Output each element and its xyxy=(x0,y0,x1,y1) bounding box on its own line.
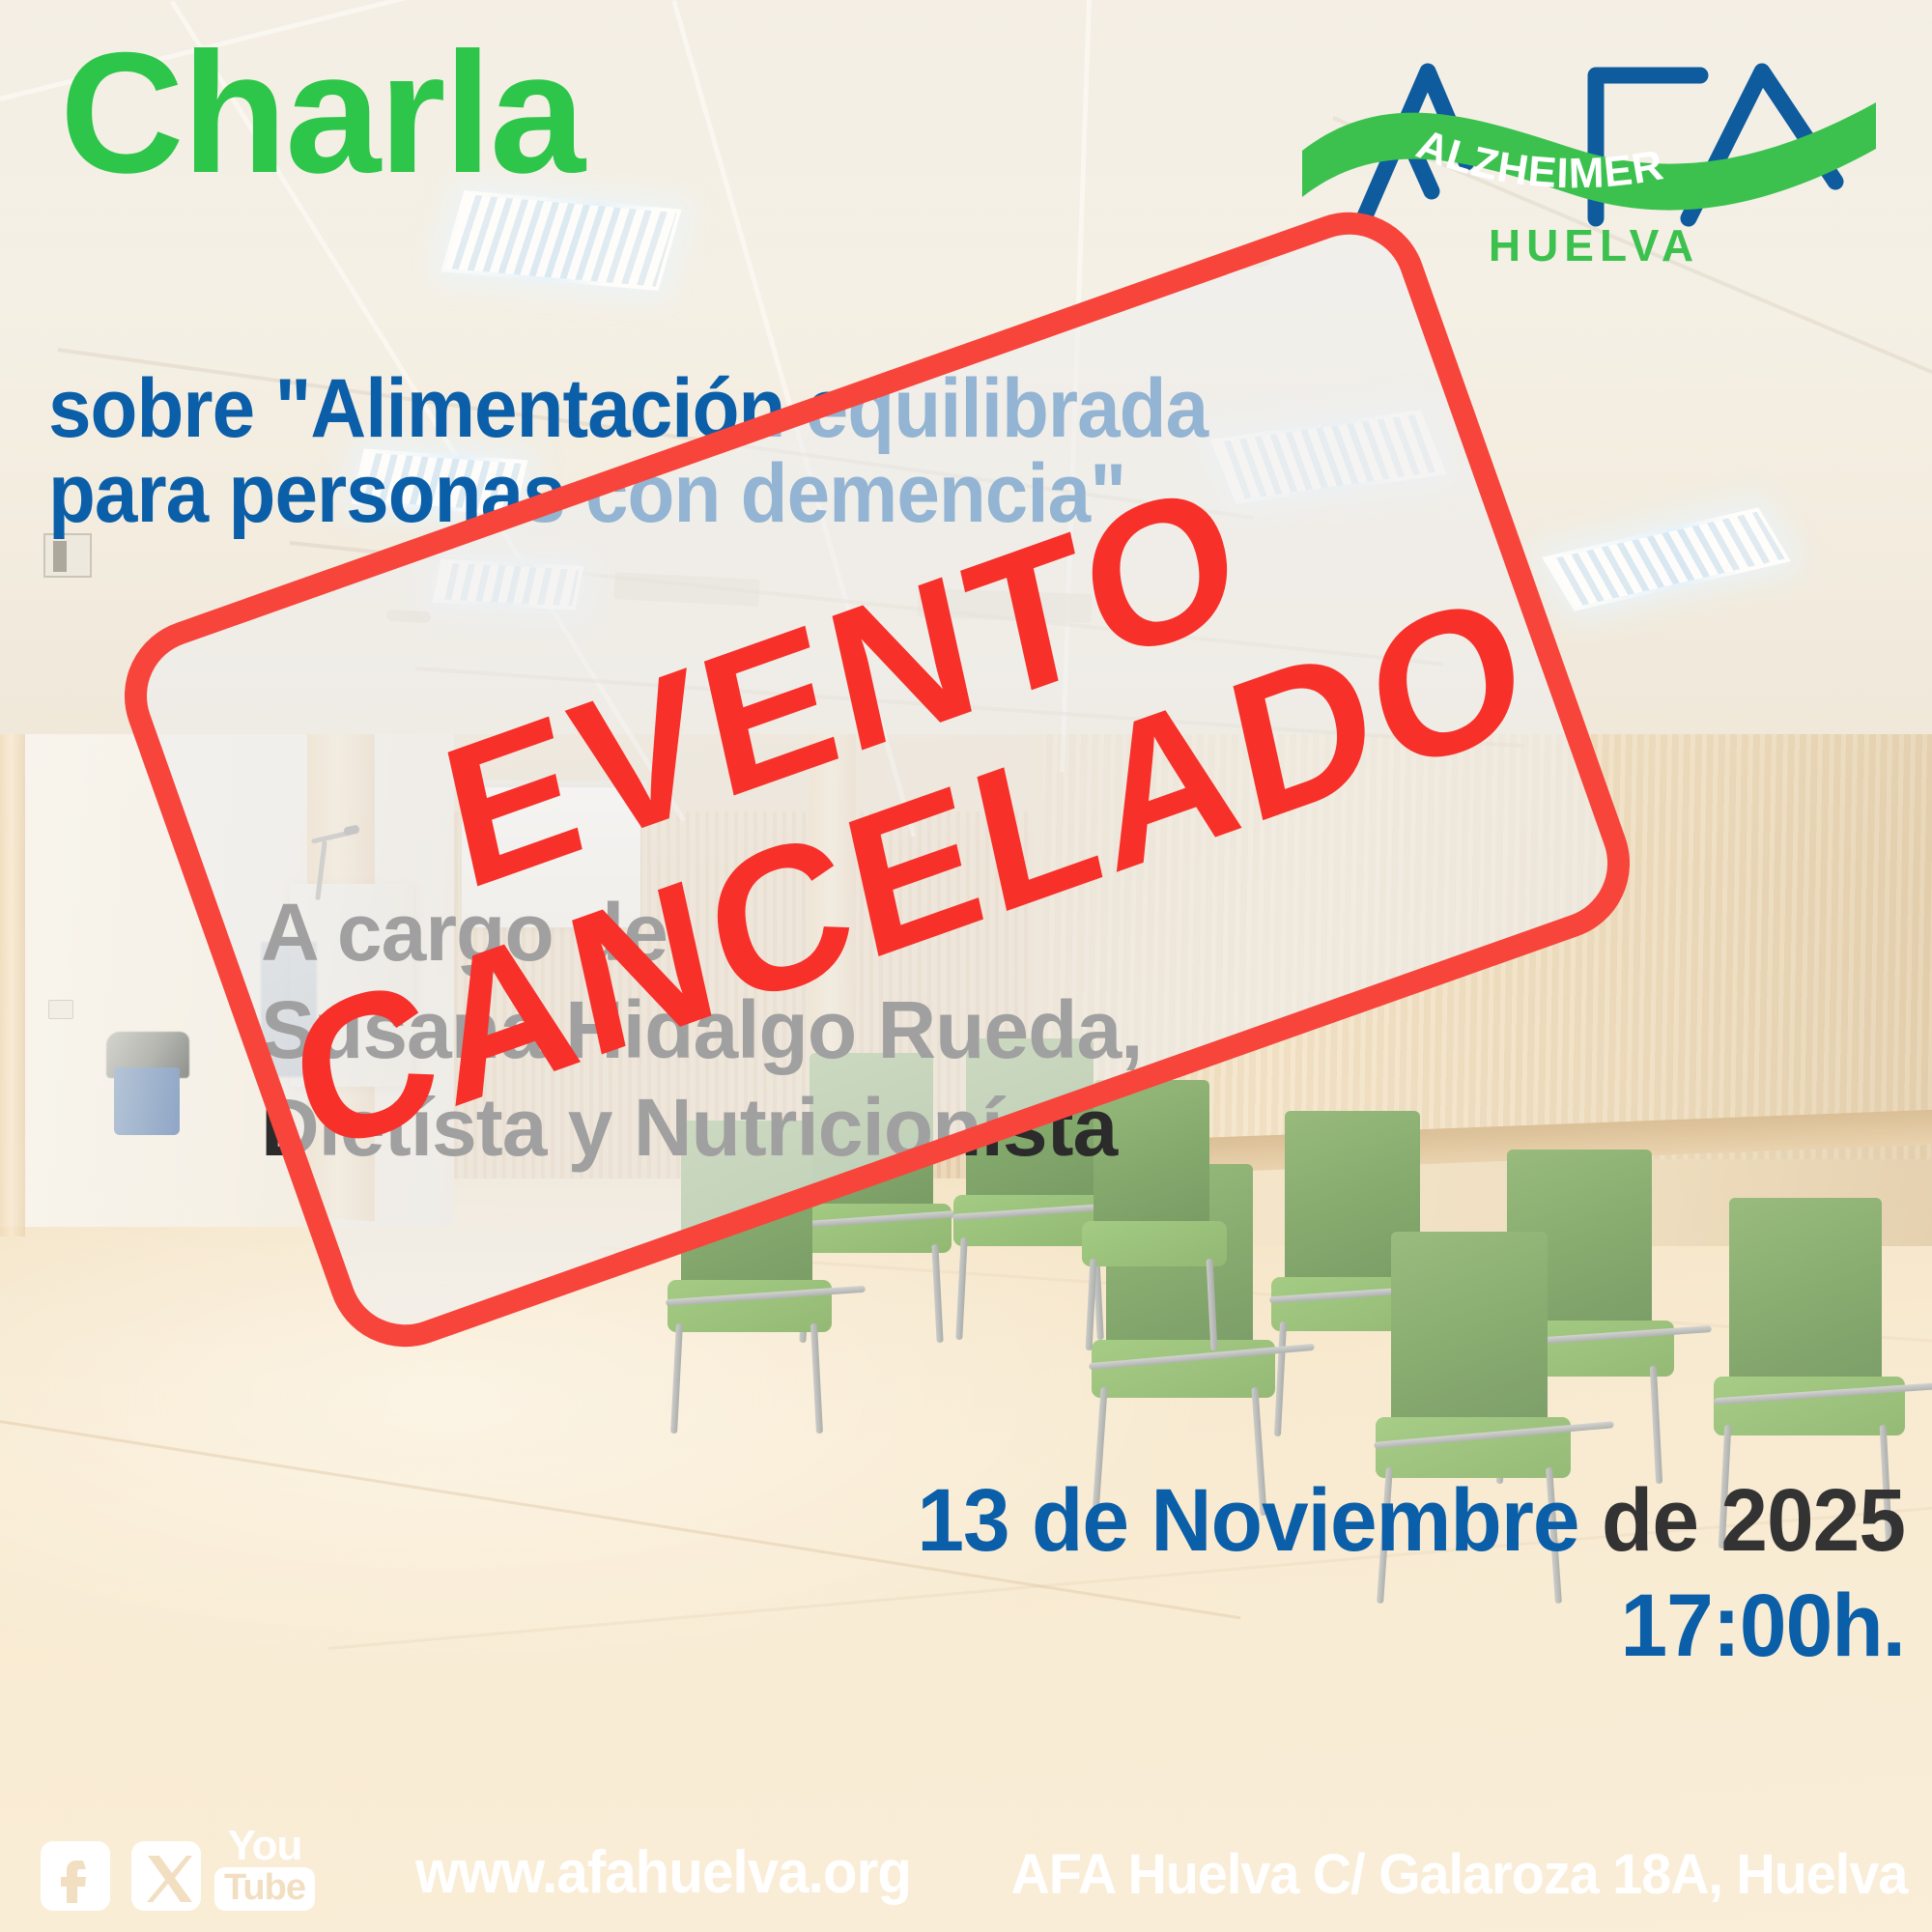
website-url[interactable]: www.afahuelva.org xyxy=(415,1838,911,1907)
organisation-address: AFA Huelva C/ Galaroza 18A, Huelva xyxy=(1010,1842,1907,1907)
footer: You Tube www.afahuelva.org AFA Huelva C/… xyxy=(0,1787,1932,1932)
event-time: 17:00h. xyxy=(1620,1577,1905,1675)
facebook-icon[interactable] xyxy=(41,1841,110,1911)
event-datetime: 13 de Noviembre de 2025 17:00h. xyxy=(528,1468,1905,1678)
event-date-row: 13 de Noviembre de 2025 xyxy=(528,1468,1905,1574)
youtube-tube-text: Tube xyxy=(214,1867,315,1911)
svg-text:ALZHEIMER: ALZHEIMER xyxy=(1410,121,1667,198)
youtube-icon[interactable]: You Tube xyxy=(222,1827,307,1911)
event-date-year: de 2025 xyxy=(1602,1471,1905,1570)
page-title: Charla xyxy=(60,27,583,199)
x-twitter-icon[interactable] xyxy=(131,1841,201,1911)
logo-ribbon-text: ALZHEIMER xyxy=(1410,121,1667,198)
event-poster: Charla sobre "Alimentación equilibrada p… xyxy=(0,0,1932,1932)
youtube-you-text: You xyxy=(228,1827,302,1865)
social-links: You Tube xyxy=(41,1827,307,1911)
event-date-day: 13 de Noviembre xyxy=(917,1471,1578,1570)
logo-city-text: HUELVA xyxy=(1489,220,1699,270)
event-time-row: 17:00h. xyxy=(528,1574,1905,1679)
